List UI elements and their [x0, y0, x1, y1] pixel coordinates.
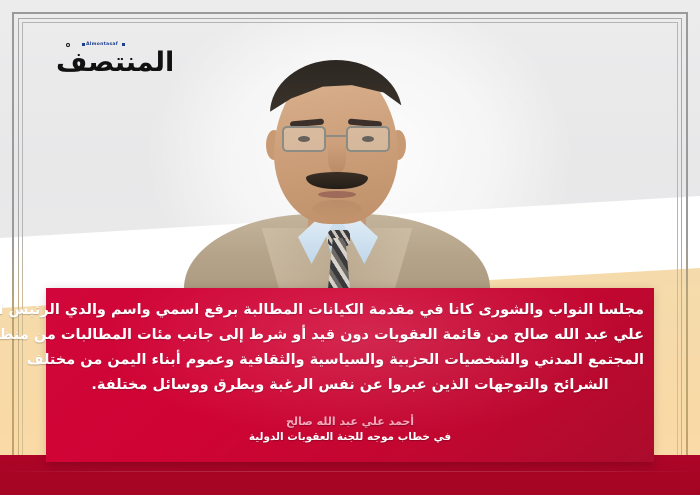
almontasaf-logo[interactable]: Almontasaf المنتصف: [56, 42, 148, 84]
attribution-subtitle: في خطاب موجه للجنة العقوبات الدولية: [46, 429, 654, 445]
attribution-name: أحمد علي عبد الله صالح: [46, 414, 654, 429]
portrait-chin-shadow: [312, 200, 362, 218]
eyeglass-bridge: [326, 135, 346, 137]
quote-text-block: مجلسا النواب والشورى كانا في مقدمة الكيا…: [56, 298, 644, 398]
eyeglass-lens-left: [282, 126, 326, 152]
logo-square-icon-right: [122, 43, 125, 46]
quote-line-1: مجلسا النواب والشورى كانا في مقدمة الكيا…: [56, 298, 644, 323]
quote-line-2: علي عبد الله صالح من قائمة العقوبات دون …: [56, 323, 644, 348]
eyeglass-lens-right: [346, 126, 390, 152]
attribution-block: أحمد علي عبد الله صالح في خطاب موجه للجن…: [46, 414, 654, 445]
quote-panel: مجلسا النواب والشورى كانا في مقدمة الكيا…: [46, 288, 654, 462]
poster-canvas: مجلسا النواب والشورى كانا في مقدمة الكيا…: [0, 0, 700, 495]
portrait-mouth: [318, 191, 356, 198]
logo-arabic-text: المنتصف: [56, 47, 174, 79]
quote-line-4: الشرائح والتوجهات الذين عبروا عن نفس الر…: [56, 373, 644, 398]
logo-square-icon-left: [82, 43, 85, 46]
quote-line-3: المجتمع المدني والشخصيات الحزبية والسياس…: [56, 348, 644, 373]
portrait-nose: [328, 144, 346, 174]
portrait-image: [186, 52, 486, 304]
bottom-arc-sheen-line: [0, 471, 700, 472]
